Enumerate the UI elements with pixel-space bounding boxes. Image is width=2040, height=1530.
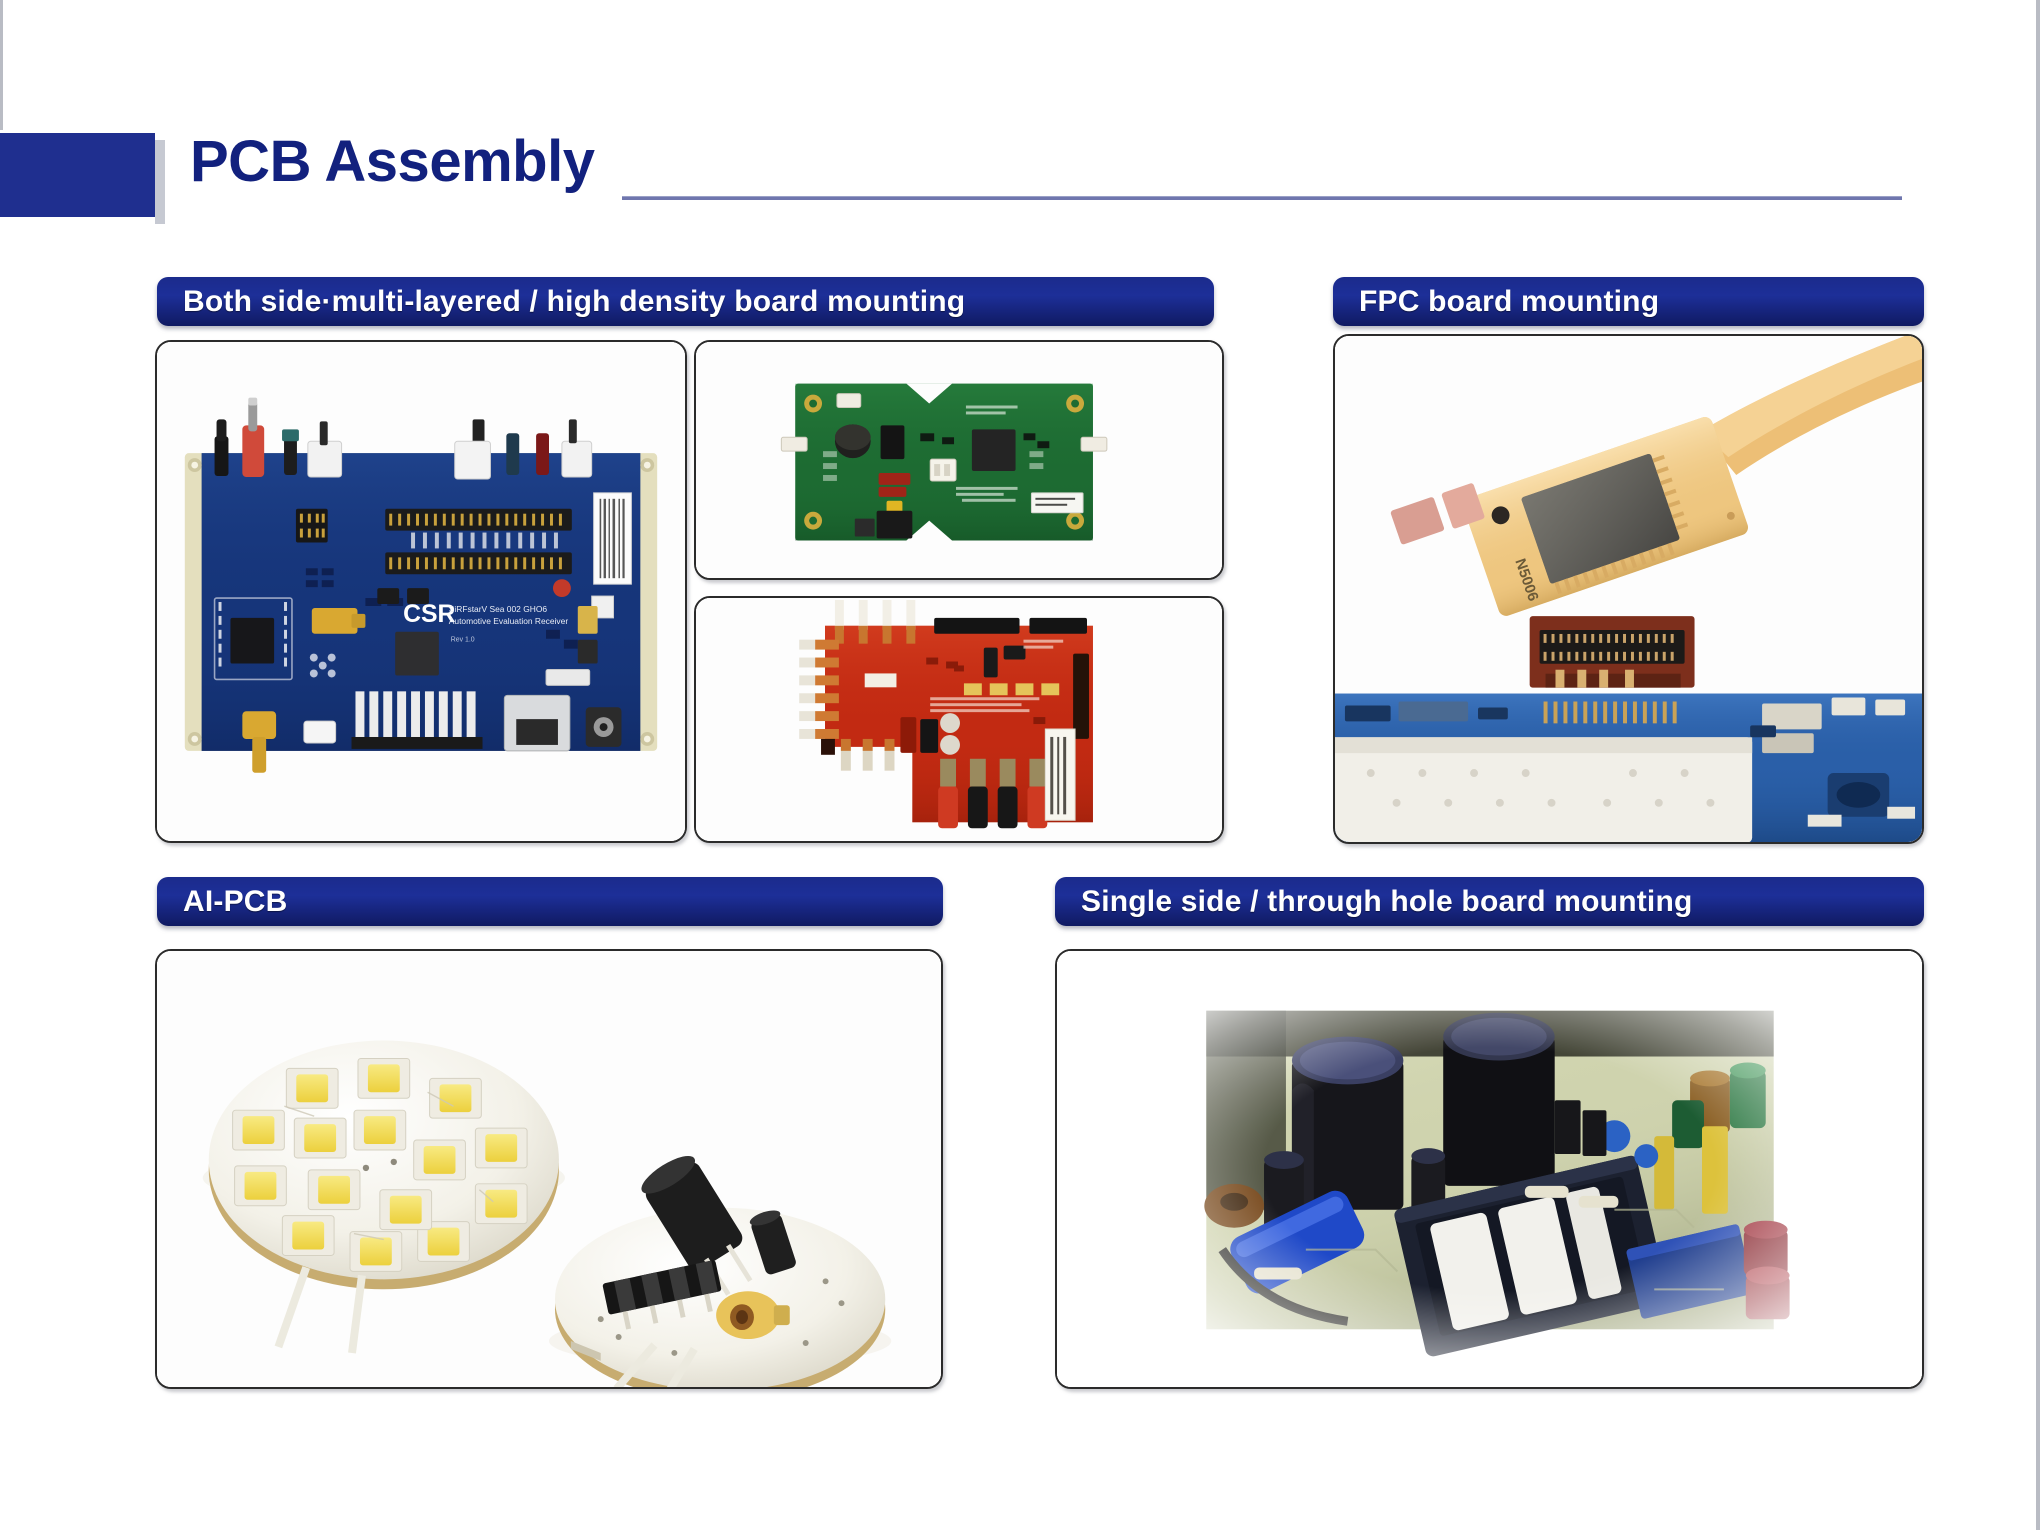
svg-text:Rev 1.0: Rev 1.0 [451, 637, 475, 644]
photo-card-green-board [694, 340, 1224, 580]
photo-card-led-aluminium-board [155, 949, 943, 1389]
section-banner-al-pcb: AI-PCB [157, 877, 943, 926]
fpc-board-photo: N5006 [1335, 336, 1922, 843]
page-title: PCB Assembly [190, 128, 594, 195]
title-underline-rule [622, 196, 1902, 200]
section-banner-label: Both side·multi-layered / high density b… [157, 285, 965, 319]
header-accent-shadow [155, 140, 165, 224]
svg-text:SiRFstarV Sea 002 GHO6: SiRFstarV Sea 002 GHO6 [449, 604, 548, 614]
header-accent-block [0, 133, 155, 217]
svg-text:Automotive Evaluation Receiver: Automotive Evaluation Receiver [449, 616, 569, 626]
smps-board-photo [1057, 951, 1922, 1389]
blue-evaluation-board-photo: CSR SiRFstarV Sea 002 GHO6 Automotive Ev… [157, 342, 685, 841]
section-banner-single-side: Single side / through hole board mountin… [1055, 877, 1924, 926]
led-aluminium-board-photo [157, 951, 941, 1389]
page-border-left [0, 0, 3, 130]
section-banner-fpc: FPC board mounting [1333, 277, 1924, 326]
photo-card-red-board [694, 596, 1224, 843]
slide-canvas: PCB Assembly Both side·multi-layered / h… [0, 0, 2040, 1530]
red-board-photo [696, 598, 1222, 843]
photo-card-smps-board [1055, 949, 1924, 1389]
section-banner-label: AI-PCB [157, 885, 288, 919]
green-board-photo [696, 342, 1222, 580]
photo-card-blue-evaluation-board: CSR SiRFstarV Sea 002 GHO6 Automotive Ev… [155, 340, 687, 843]
photo-card-fpc-board: N5006 [1333, 334, 1924, 844]
section-banner-label: Single side / through hole board mountin… [1055, 885, 1693, 919]
section-banner-both-side: Both side·multi-layered / high density b… [157, 277, 1214, 326]
page-border-right [2036, 0, 2040, 1530]
svg-text:CSR: CSR [403, 601, 455, 628]
section-banner-label: FPC board mounting [1333, 285, 1659, 319]
